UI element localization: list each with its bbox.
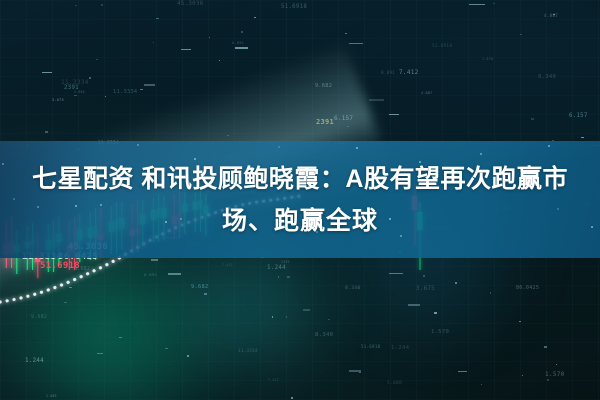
- banner-sparkle: [548, 145, 550, 147]
- banner-sparkle: [278, 146, 280, 148]
- banner-sparkle: [137, 144, 139, 146]
- banner-sparkle: [356, 147, 358, 149]
- title-line-2: 场、跑赢全球: [32, 200, 568, 242]
- banner-sparkle: [13, 198, 15, 200]
- headline-banner: 七星配资 和讯投顾鲍晓霞：A股有望再次跑赢市 场、跑赢全球: [0, 141, 600, 258]
- page-title: 七星配资 和讯投顾鲍晓霞：A股有望再次跑赢市 场、跑赢全球: [32, 158, 568, 242]
- banner-sparkle: [591, 226, 593, 228]
- banner-sparkle: [480, 153, 482, 155]
- title-line-1: 七星配资 和讯投顾鲍晓霞：A股有望再次跑赢市: [32, 158, 568, 200]
- news-banner-image: 8.3409.68251.69187.4121.57023.056.1578.3…: [0, 0, 600, 400]
- banner-sparkle: [2, 163, 4, 165]
